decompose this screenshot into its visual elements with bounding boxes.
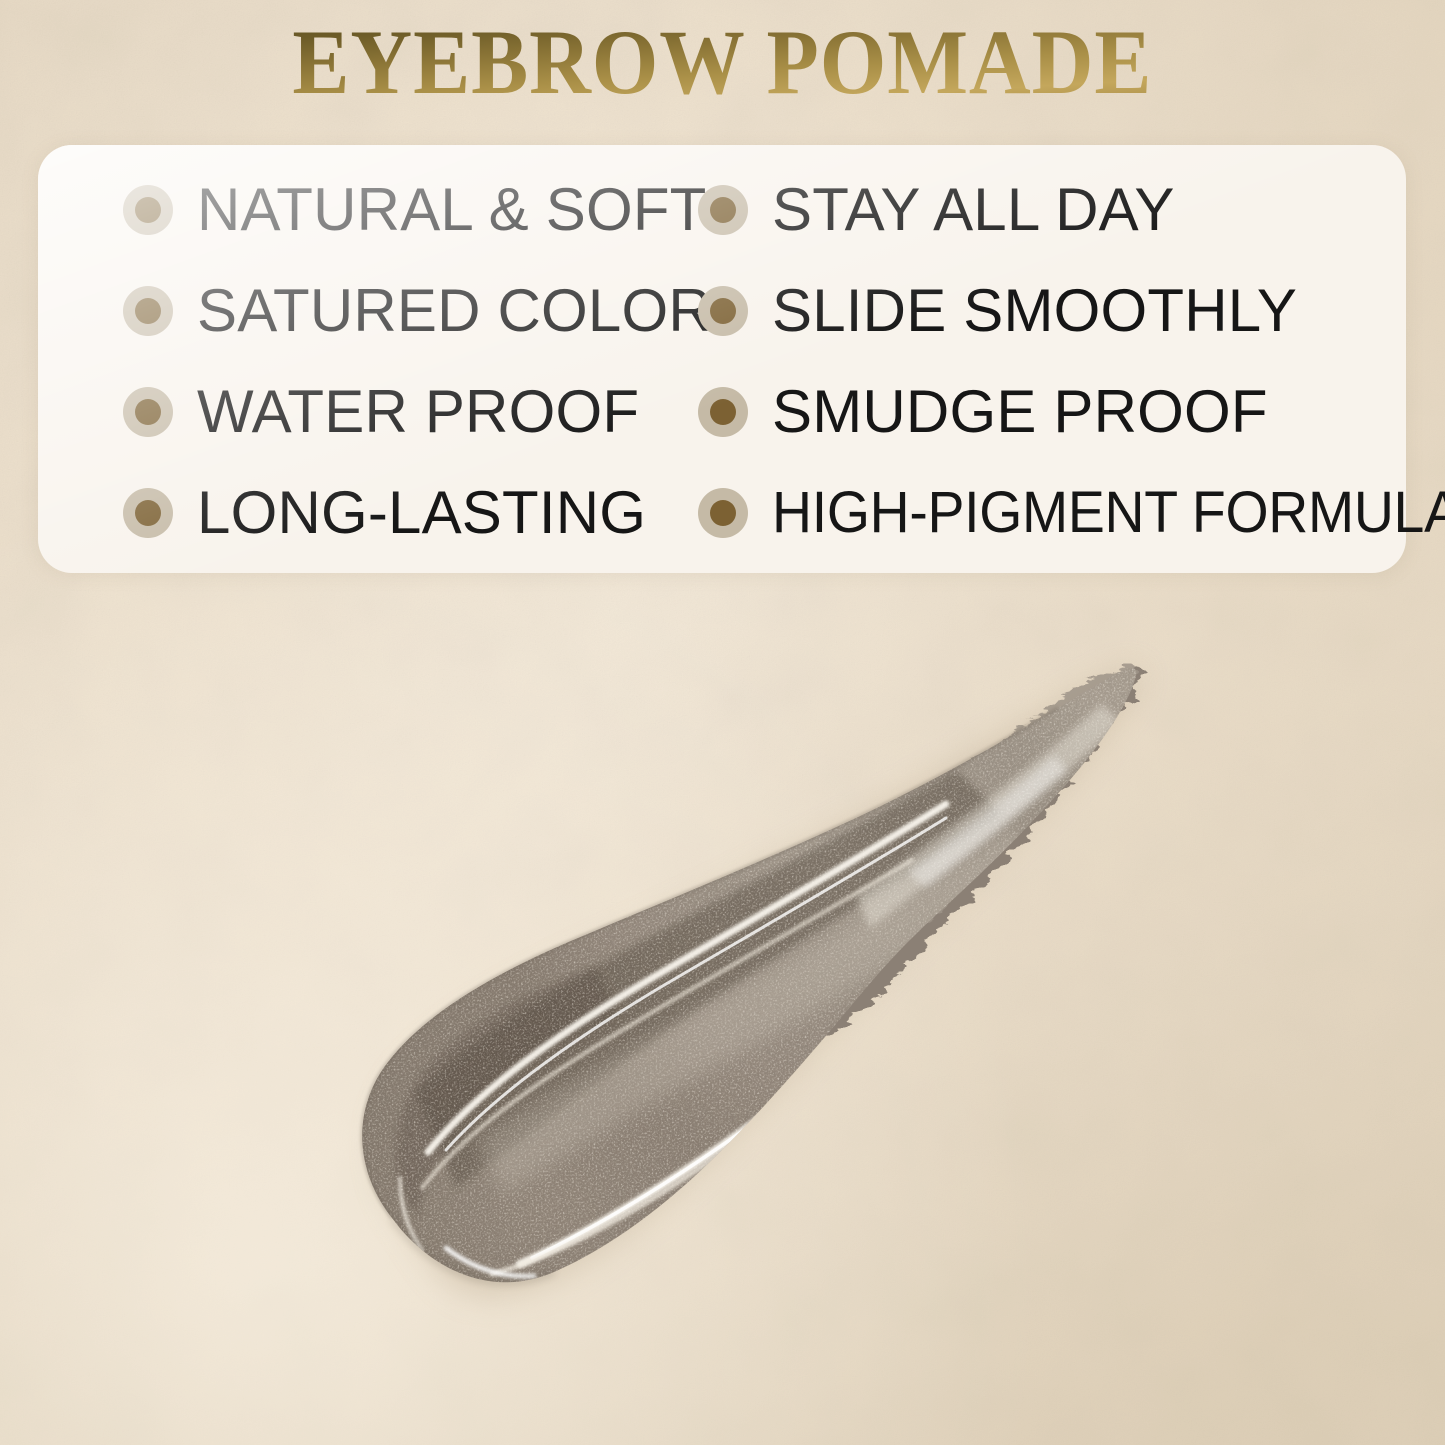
bullet-icon [123,286,173,336]
swatch-area [0,560,1445,1445]
feature-label: SATURED COLOR [197,276,712,345]
feature-item-satured-color: SATURED COLOR [38,260,638,361]
bullet-icon [698,387,748,437]
feature-item-natural-soft: NATURAL & SOFT [38,159,638,260]
feature-label: LONG-LASTING [197,478,646,547]
feature-item-long-lasting: LONG-LASTING [38,462,638,563]
feature-list-card: NATURAL & SOFT STAY ALL DAY SATURED COLO… [38,145,1406,573]
bullet-icon [123,387,173,437]
feature-item-smudge-proof: SMUDGE PROOF [638,361,1406,462]
feature-label: WATER PROOF [197,377,639,446]
page-title: EYEBROW POMADE [293,16,1153,108]
feature-item-slide-smoothly: SLIDE SMOOTHLY [638,260,1406,361]
feature-grid: NATURAL & SOFT STAY ALL DAY SATURED COLO… [38,145,1406,573]
feature-label: SLIDE SMOOTHLY [772,276,1297,345]
feature-label: HIGH-PIGMENT FORMULA [772,479,1445,546]
feature-label: NATURAL & SOFT [197,175,707,244]
feature-label: STAY ALL DAY [772,175,1175,244]
bullet-icon [698,286,748,336]
feature-label: SMUDGE PROOF [772,377,1268,446]
pomade-smear-swatch [296,622,1186,1412]
swatch-body [296,622,1186,1412]
bullet-icon [123,185,173,235]
bullet-icon [123,488,173,538]
bullet-icon [698,488,748,538]
product-image-canvas: EYEBROW POMADE NATURAL & SOFT STAY ALL D… [0,0,1445,1445]
feature-item-high-pigment-formula: HIGH-PIGMENT FORMULA [638,462,1406,563]
swatch-render [296,622,1186,1412]
title-container: EYEBROW POMADE [0,16,1445,108]
bullet-icon [698,185,748,235]
feature-item-stay-all-day: STAY ALL DAY [638,159,1406,260]
feature-item-water-proof: WATER PROOF [38,361,638,462]
